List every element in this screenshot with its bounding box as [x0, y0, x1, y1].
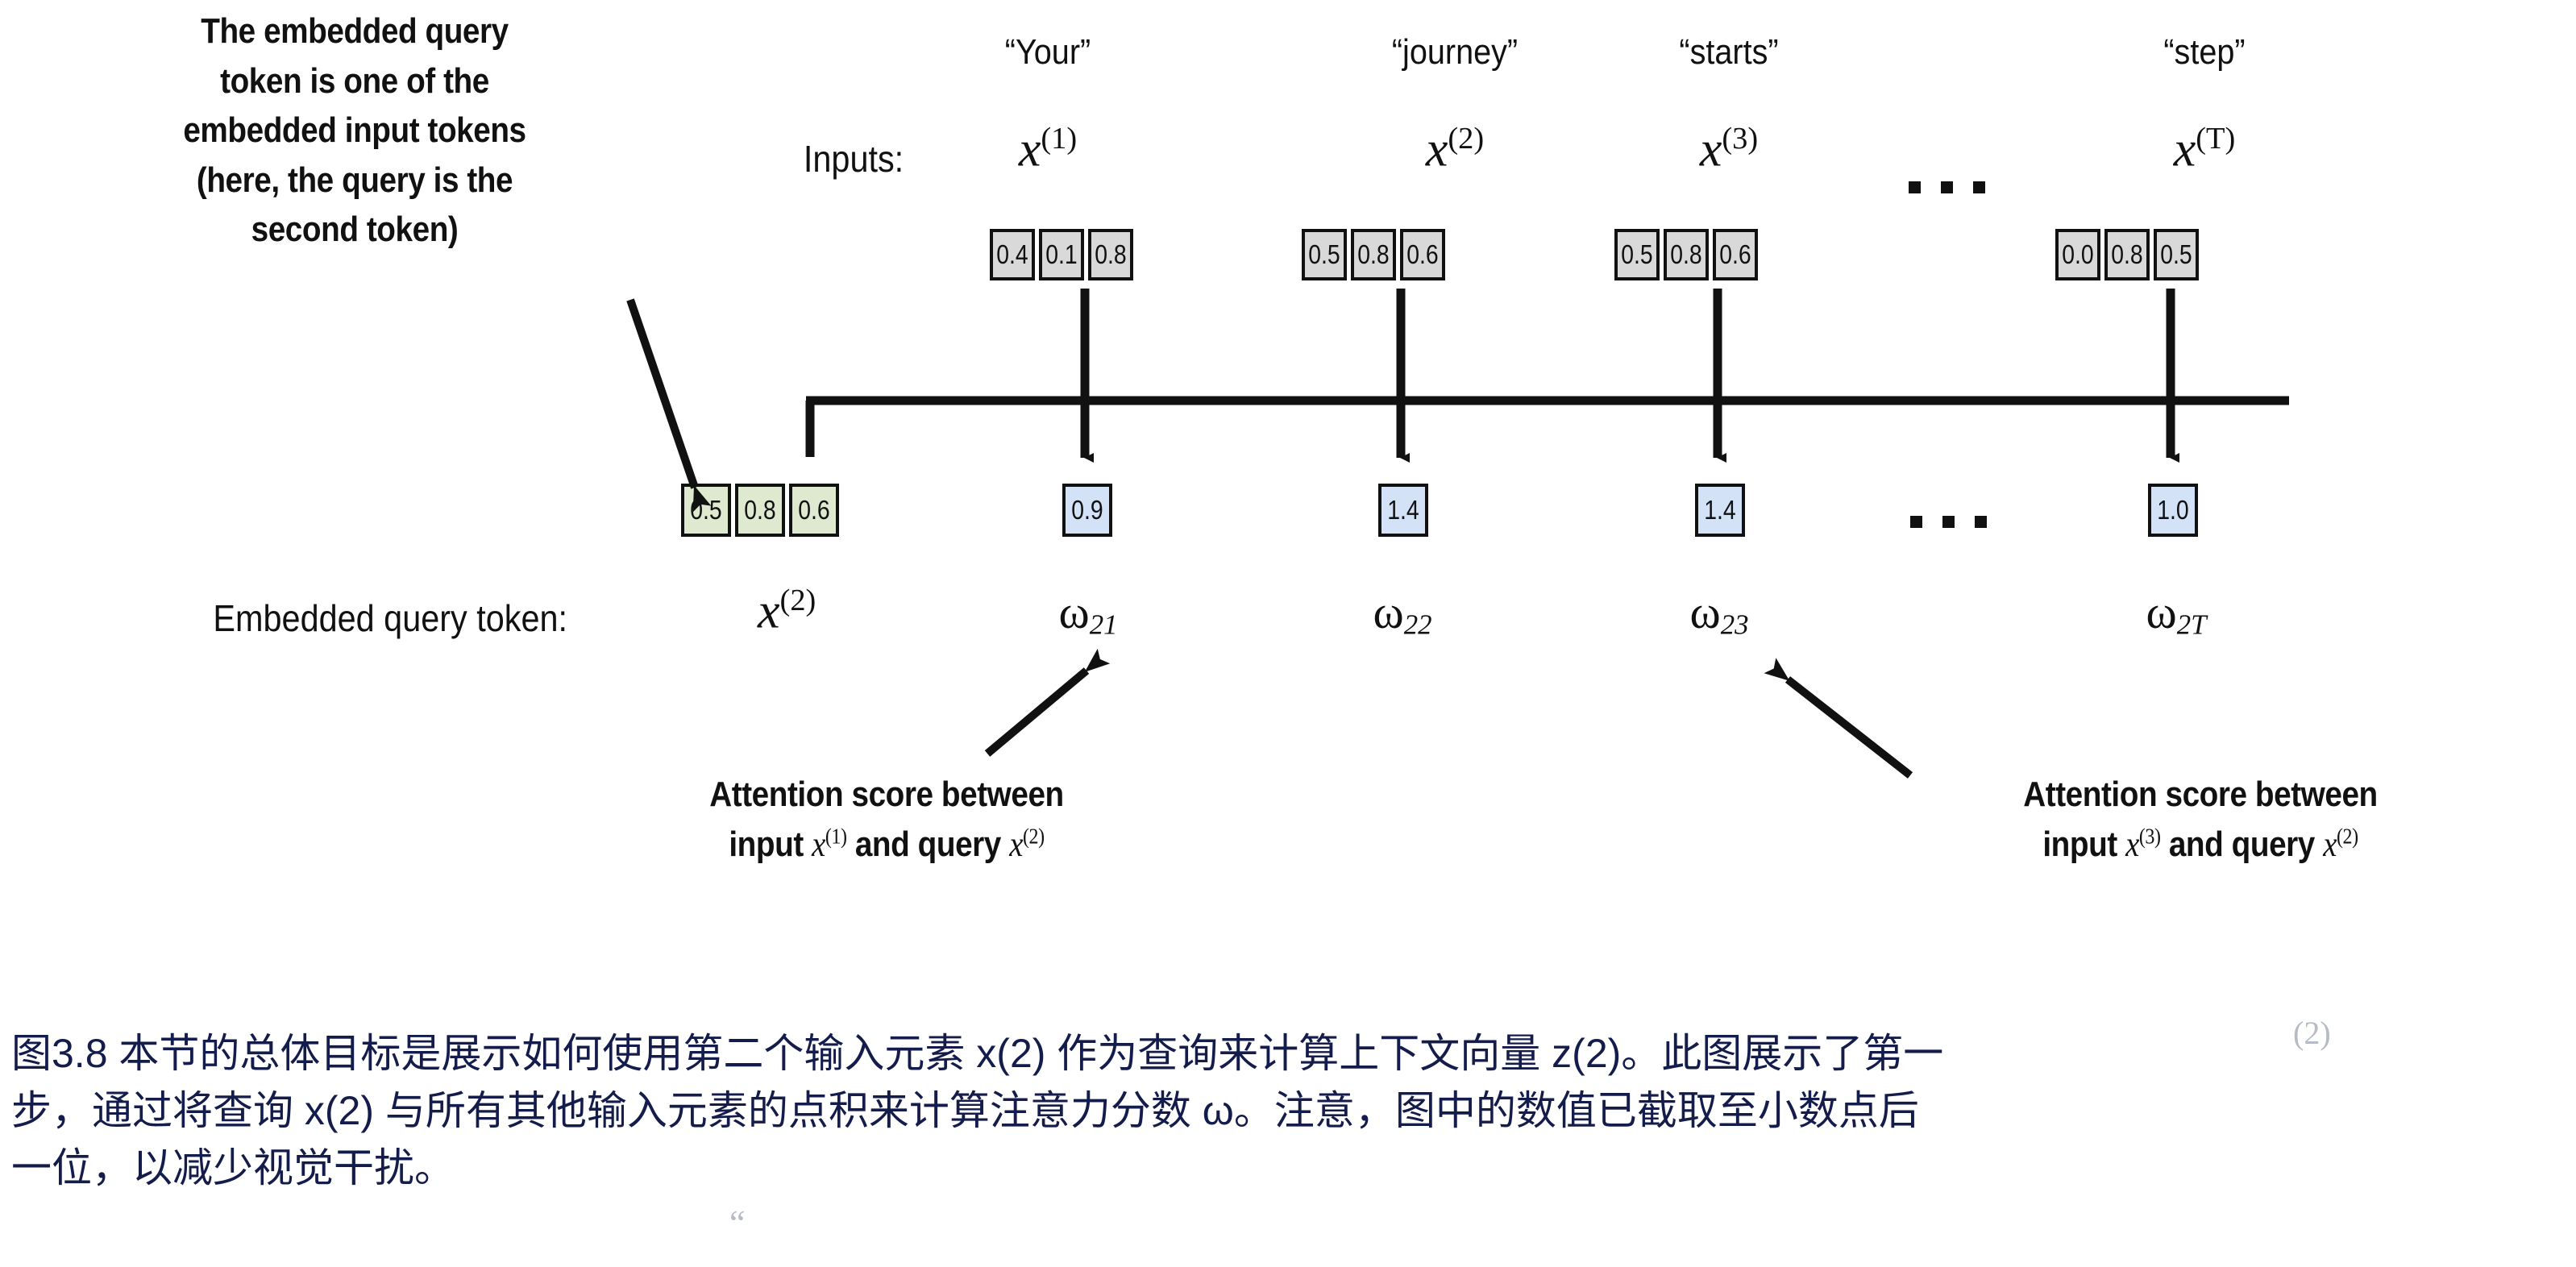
input-cell: 0.8 — [1351, 229, 1396, 280]
score-box-1: 0.9 — [1062, 484, 1112, 537]
callout-sup2: (2) — [2337, 824, 2358, 848]
input-symbol-base: x — [1019, 123, 1041, 177]
figure-caption: 图3.8 本节的总体目标是展示如何使用第二个输入元素 x(2) 作为查询来计算上… — [11, 1025, 2566, 1197]
callout-sup2: (2) — [1023, 824, 1045, 848]
input-vector-3: 0.5 0.8 0.6 — [1614, 229, 1758, 280]
callout-line-math: input x(3) and query x(2) — [1917, 820, 2484, 870]
input-cell: 0.0 — [2055, 229, 2100, 280]
omega-base: ω — [1690, 586, 1721, 638]
callout-text: and query — [847, 825, 1010, 864]
inputs-label: Inputs: — [804, 137, 904, 181]
query-symbol-base: x — [758, 584, 780, 639]
input-cell: 0.8 — [2104, 229, 2150, 280]
callout-line: second token) — [85, 205, 625, 255]
distribution-bus — [806, 401, 2289, 457]
input-symbol-2: x(2) — [1338, 121, 1572, 179]
input-vector-1: 0.4 0.1 0.8 — [990, 229, 1133, 280]
callout-x1: x — [2125, 825, 2139, 864]
input-symbol-base: x — [2174, 123, 2196, 177]
omega-base: ω — [2146, 586, 2177, 638]
omega-sub: 21 — [1090, 609, 1118, 641]
callout-embedded-query-note: The embedded query token is one of the e… — [85, 6, 625, 255]
input-vector-4: 0.0 0.8 0.5 — [2055, 229, 2199, 280]
query-vector: 0.5 0.8 0.6 — [681, 484, 839, 537]
input-symbol-base: x — [1700, 123, 1722, 177]
callout-line: Attention score between — [603, 770, 1170, 820]
callout-sup1: (1) — [825, 824, 847, 848]
input-cell: 0.4 — [990, 229, 1035, 280]
omega-base: ω — [1059, 586, 1090, 638]
input-symbol-sup: (2) — [1448, 122, 1484, 156]
input-symbol-sup: (T) — [2196, 122, 2235, 156]
callout-text: input — [729, 825, 812, 864]
query-symbol: x(2) — [758, 583, 816, 641]
caption-line-2: 步，通过将查询 x(2) 与所有其他输入元素的点积来计算注意力分数 ω。注意，图… — [11, 1082, 2566, 1140]
input-symbol-sup: (1) — [1041, 122, 1077, 156]
callout-x2: x — [1009, 825, 1023, 864]
omega-sub: 2T — [2177, 609, 2207, 641]
score-label-3: ω23 — [1659, 585, 1780, 642]
input-cell: 0.1 — [1039, 229, 1084, 280]
input-word-4: “step” — [2100, 32, 2310, 73]
score-ellipsis-icon — [1910, 516, 1987, 528]
callout-line: Attention score between — [1917, 770, 2484, 820]
input-cell: 0.8 — [1664, 229, 1709, 280]
scan-artifact-glyph-2: “ — [729, 1203, 746, 1244]
score-right-pointer-arrow — [1788, 679, 1910, 775]
query-cell: 0.6 — [789, 484, 839, 537]
input-cell: 0.5 — [2154, 229, 2199, 280]
callout-x2: x — [2323, 825, 2337, 864]
caption-line-3: 一位，以减少视觉干扰。 — [11, 1140, 2566, 1197]
embedded-query-token-label: Embedded query token: — [213, 596, 567, 640]
callout-line-math: input x(1) and query x(2) — [603, 820, 1170, 870]
input-symbol-1: x(1) — [951, 121, 1145, 179]
callout-attention-score-left: Attention score between input x(1) and q… — [603, 770, 1170, 869]
score-box-2: 1.4 — [1378, 484, 1428, 537]
input-to-score-arrows — [1085, 289, 2171, 458]
callout-text: and query — [2161, 825, 2324, 864]
score-label-2: ω22 — [1342, 585, 1463, 642]
input-word-2: “journey” — [1350, 32, 1560, 73]
callout-line: embedded input tokens — [85, 106, 625, 156]
input-cell: 0.8 — [1088, 229, 1133, 280]
query-cell: 0.8 — [735, 484, 785, 537]
callout-attention-score-right: Attention score between input x(3) and q… — [1917, 770, 2484, 869]
input-word-3: “starts” — [1606, 32, 1852, 73]
omega-base: ω — [1373, 586, 1404, 638]
score-cell: 1.4 — [1378, 484, 1428, 537]
score-box-4: 1.0 — [2148, 484, 2198, 537]
attention-score-diagram: The embedded query token is one of the e… — [0, 0, 2576, 1003]
query-symbol-sup: (2) — [780, 584, 816, 617]
callout-sup1: (3) — [2139, 824, 2161, 848]
score-label-1: ω21 — [1028, 585, 1149, 642]
input-cell: 0.5 — [1302, 229, 1347, 280]
callout-line: (here, the query is the — [85, 156, 625, 206]
callout-line: The embedded query — [85, 6, 625, 56]
score-cell: 1.0 — [2148, 484, 2198, 537]
query-cell: 0.5 — [681, 484, 731, 537]
callout-x1: x — [812, 825, 825, 864]
score-cell: 1.4 — [1695, 484, 1745, 537]
input-symbol-sup: (3) — [1722, 122, 1758, 156]
input-cell: 0.6 — [1400, 229, 1445, 280]
input-ellipsis-icon — [1909, 181, 1985, 193]
input-symbol-4: x(T) — [2088, 121, 2321, 179]
input-cell: 0.6 — [1713, 229, 1758, 280]
input-symbol-3: x(3) — [1592, 121, 1866, 179]
input-vector-2: 0.5 0.8 0.6 — [1302, 229, 1445, 280]
score-label-4: ω2T — [2112, 585, 2241, 642]
omega-sub: 22 — [1404, 609, 1432, 641]
input-word-1: “Your” — [961, 32, 1135, 73]
omega-sub: 23 — [1721, 609, 1749, 641]
input-cell: 0.5 — [1614, 229, 1660, 280]
caption-line-1: 图3.8 本节的总体目标是展示如何使用第二个输入元素 x(2) 作为查询来计算上… — [11, 1025, 2566, 1082]
query-note-pointer-arrow — [630, 300, 695, 488]
score-box-3: 1.4 — [1695, 484, 1745, 537]
score-left-pointer-arrow — [987, 671, 1086, 754]
score-cell: 0.9 — [1062, 484, 1112, 537]
callout-text: input — [2042, 825, 2125, 864]
callout-line: token is one of the — [85, 56, 625, 106]
input-symbol-base: x — [1426, 123, 1448, 177]
